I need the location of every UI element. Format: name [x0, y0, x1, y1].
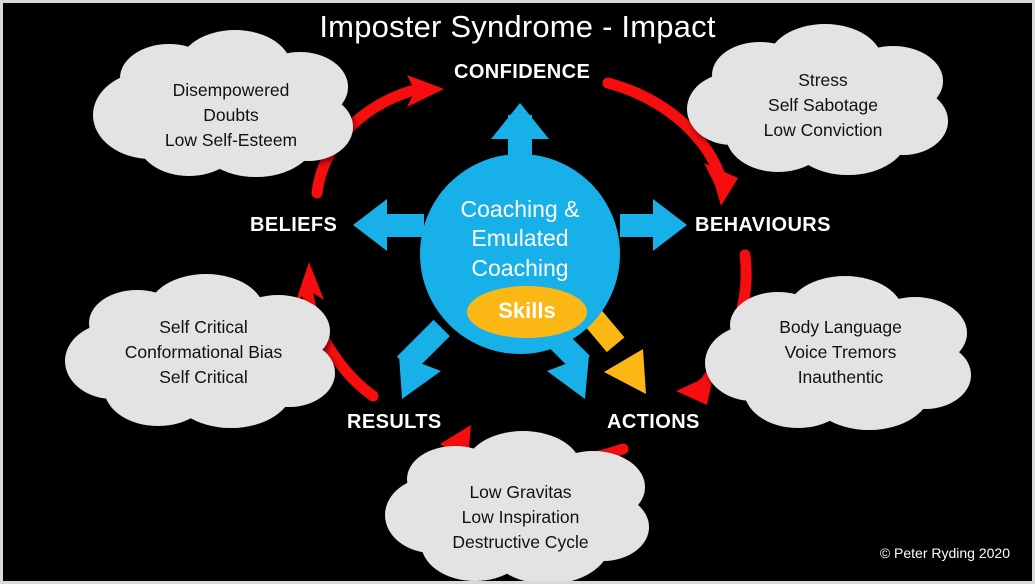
hub-label-line-2: Emulated — [410, 224, 630, 253]
cloud-line: Low Self-Esteem — [131, 128, 331, 153]
hub-label-line-1: Coaching & — [410, 195, 630, 224]
cloud-line: Self Critical — [101, 365, 306, 390]
hub-label-line-3: Coaching — [410, 254, 630, 283]
node-label-confidence[interactable]: CONFIDENCE — [454, 61, 590, 84]
cloud-line: Low Inspiration — [418, 505, 623, 530]
cloud-text-behaviours: Body Language Voice Tremors Inauthentic — [738, 315, 943, 390]
copyright-notice: © Peter Ryding 2020 — [880, 545, 1010, 561]
cloud-line: Voice Tremors — [738, 340, 943, 365]
node-label-results[interactable]: RESULTS — [347, 411, 442, 434]
cloud-line: Conformational Bias — [101, 340, 306, 365]
cloud-line: Doubts — [131, 103, 331, 128]
node-label-behaviours[interactable]: BEHAVIOURS — [695, 214, 831, 237]
cloud-line: Inauthentic — [738, 365, 943, 390]
cloud-line: Low Conviction — [723, 118, 923, 143]
cloud-line: Body Language — [738, 315, 943, 340]
node-label-actions[interactable]: ACTIONS — [607, 411, 700, 434]
cloud-line: Self Sabotage — [723, 93, 923, 118]
cloud-text-actions: Low Gravitas Low Inspiration Destructive… — [418, 480, 623, 555]
cloud-text-results: Self Critical Conformational Bias Self C… — [101, 315, 306, 390]
cloud-line: Disempowered — [131, 78, 331, 103]
hub-label: Coaching & Emulated Coaching — [410, 195, 630, 283]
slide-canvas: Imposter Syndrome - Impact CONFIDENCE BE… — [0, 0, 1035, 584]
node-label-beliefs[interactable]: BELIEFS — [250, 214, 337, 237]
cloud-text-confidence: Stress Self Sabotage Low Conviction — [723, 68, 923, 143]
hub-arrow-to-behaviours — [620, 199, 687, 251]
cloud-line: Stress — [723, 68, 923, 93]
cloud-line: Self Critical — [101, 315, 306, 340]
diagram-stage: Imposter Syndrome - Impact CONFIDENCE BE… — [3, 3, 1032, 581]
cloud-text-beliefs: Disempowered Doubts Low Self-Esteem — [131, 78, 331, 153]
skills-label: Skills — [457, 298, 597, 324]
page-title: Imposter Syndrome - Impact — [3, 9, 1032, 45]
cloud-line: Destructive Cycle — [418, 530, 623, 555]
hub-arrow-to-results — [397, 320, 450, 399]
cloud-line: Low Gravitas — [418, 480, 623, 505]
